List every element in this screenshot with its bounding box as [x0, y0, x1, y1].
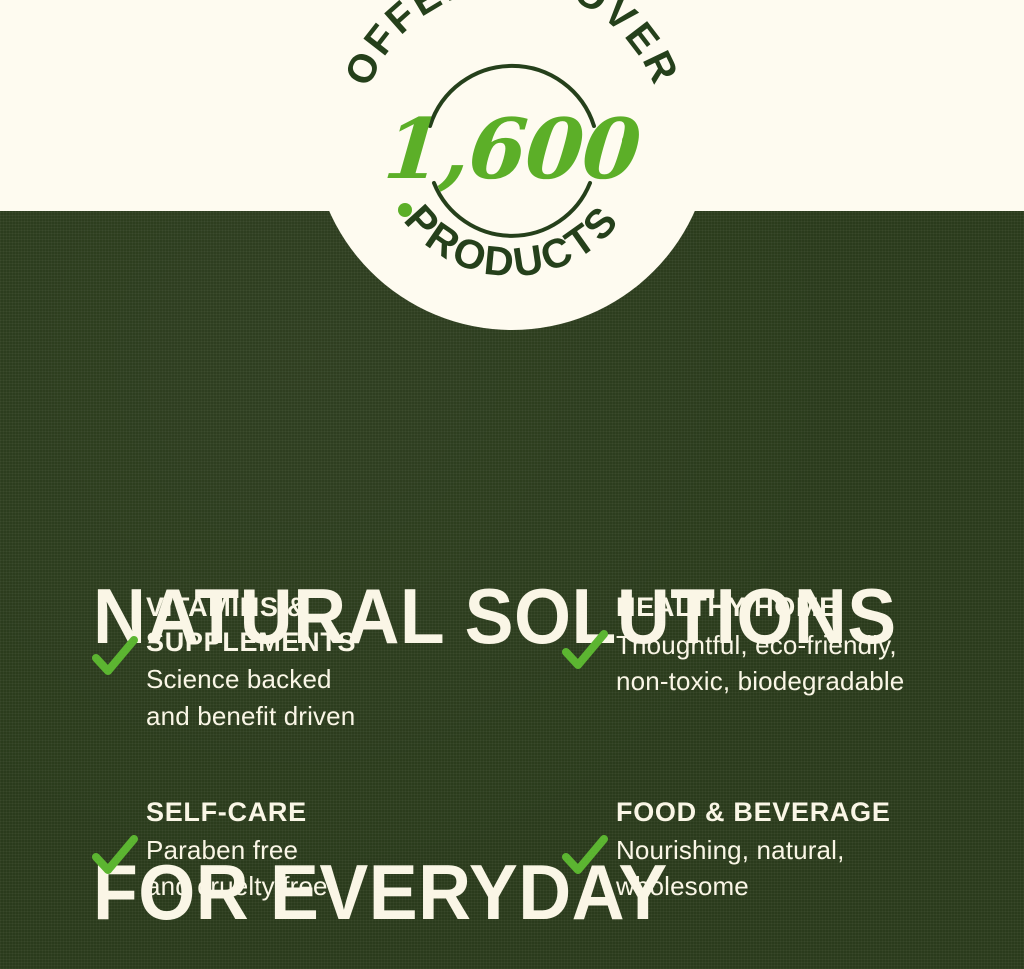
offering-badge: OFFERING OVER PRODUCTS 1,600 — [312, 0, 712, 330]
checkmark-icon — [562, 628, 608, 674]
feature-title: SELF-CARE — [146, 795, 328, 830]
checkmark-icon — [92, 634, 138, 680]
badge-arc-top-text: OFFERING OVER — [337, 0, 688, 92]
feature-description: Science backed and benefit driven — [146, 661, 356, 735]
promo-poster: OFFERING OVER PRODUCTS 1,600 NATURAL SOL… — [0, 0, 1024, 969]
feature-title: FOOD & BEVERAGE — [616, 795, 891, 830]
feature-item-vitamins-supplements: VITAMINS & SUPPLEMENTS Science backed an… — [92, 588, 552, 793]
badge-arc-bottom-text: PRODUCTS — [396, 196, 628, 286]
feature-body: VITAMINS & SUPPLEMENTS Science backed an… — [146, 588, 356, 735]
feature-item-self-care: SELF-CARE Paraben free and cruelty free — [92, 793, 552, 905]
feature-body: HEALTHY HOME Thoughtful, eco-friendly, n… — [616, 588, 904, 700]
feature-description: Paraben free and cruelty free — [146, 832, 328, 906]
feature-item-food-beverage: FOOD & BEVERAGE Nourishing, natural, who… — [562, 793, 1022, 905]
feature-item-healthy-home: HEALTHY HOME Thoughtful, eco-friendly, n… — [562, 588, 1022, 793]
feature-title: HEALTHY HOME — [616, 590, 904, 625]
feature-title: VITAMINS & SUPPLEMENTS — [146, 590, 356, 659]
feature-body: SELF-CARE Paraben free and cruelty free — [146, 793, 328, 905]
checkmark-icon — [562, 833, 608, 879]
feature-description: Thoughtful, eco-friendly, non-toxic, bio… — [616, 627, 904, 701]
feature-description: Nourishing, natural, wholesome — [616, 832, 891, 906]
badge-product-count: 1,600 — [308, 108, 715, 191]
feature-list: VITAMINS & SUPPLEMENTS Science backed an… — [0, 588, 1024, 905]
feature-body: FOOD & BEVERAGE Nourishing, natural, who… — [616, 793, 891, 905]
checkmark-icon — [92, 833, 138, 879]
